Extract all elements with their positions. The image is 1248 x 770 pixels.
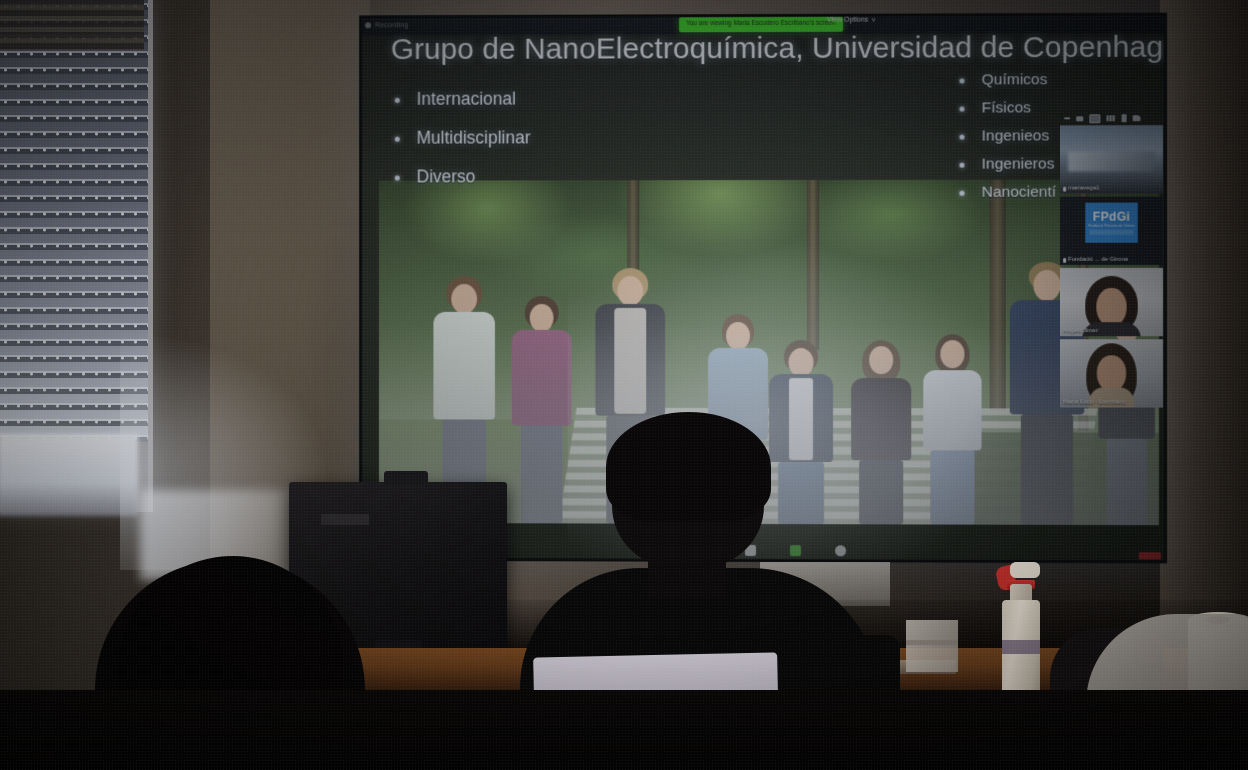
recording-dot-icon bbox=[365, 22, 371, 28]
view-options-label: View Options bbox=[827, 17, 868, 24]
participant-name-row: Maria Escu - Escribano bbox=[1063, 399, 1126, 405]
spray-label bbox=[1002, 640, 1040, 654]
window-icon[interactable] bbox=[1076, 116, 1083, 121]
wall-panel-right bbox=[1160, 0, 1248, 620]
participant-name: Angels Jimer bbox=[1063, 328, 1098, 334]
webcam-icon bbox=[384, 471, 428, 485]
participant-tile[interactable]: mariavega1 bbox=[1060, 125, 1163, 193]
participant-tile[interactable]: FPdGi Fundació Princesa de Girona Fundac… bbox=[1060, 197, 1163, 265]
participant-name: mariavega1 bbox=[1068, 186, 1100, 192]
fpdgi-logo-bar bbox=[1089, 230, 1133, 235]
view-options-button[interactable]: View Options ∨ bbox=[827, 17, 876, 24]
mic-muted-icon bbox=[1063, 257, 1066, 262]
participant-face bbox=[1096, 288, 1126, 326]
slide-title: Grupo de NanoElectroquímica, Universidad… bbox=[391, 31, 1151, 67]
participant-tile[interactable]: Maria Escu - Escribano bbox=[1060, 339, 1163, 407]
gallery-view-icon[interactable] bbox=[1089, 114, 1100, 123]
screen-share-banner: You are viewing Maria Escudero Escribano… bbox=[679, 17, 842, 33]
recording-badge bbox=[1139, 552, 1161, 559]
bullet-item: Químicos bbox=[955, 71, 1056, 89]
participant-face bbox=[1097, 355, 1126, 391]
zoom-video-strip: + mariavega1 FPdGi Fundació Princesa bbox=[1060, 111, 1163, 411]
fpdgi-logo-sub: Fundació Princesa de Girona bbox=[1089, 224, 1135, 228]
plus-icon[interactable]: + bbox=[1122, 114, 1127, 122]
grid-view-icon[interactable] bbox=[1106, 115, 1115, 121]
participant-tile[interactable]: Angels Jimer bbox=[1060, 268, 1163, 336]
window-light bbox=[0, 434, 138, 516]
spray-nozzle bbox=[1010, 562, 1040, 578]
bullet-item: Ingenieros bbox=[955, 156, 1056, 174]
recording-label: Recording bbox=[375, 22, 408, 29]
desk-front-edge bbox=[0, 690, 1248, 770]
carton-box-band bbox=[906, 640, 958, 645]
recording-indicator: Recording bbox=[365, 22, 408, 29]
slide-bullets-right: Químicos Físicos Ingenieos Ingenieros Na… bbox=[955, 71, 1056, 212]
bullet-item: Diverso bbox=[391, 166, 531, 187]
carton-box bbox=[906, 620, 958, 672]
participant-name-row: mariavega1 bbox=[1063, 186, 1100, 192]
participant-name: Maria Escu - Escribano bbox=[1063, 399, 1126, 405]
participant-name-row: Fundació ... de Girona bbox=[1063, 257, 1128, 263]
fpdgi-logo-main: FPdGi bbox=[1093, 210, 1130, 222]
minimize-icon[interactable] bbox=[1064, 117, 1070, 119]
chevron-down-icon: ∨ bbox=[871, 17, 875, 24]
participant-name-row: Angels Jimer bbox=[1063, 328, 1098, 334]
bullet-item: Ingenieos bbox=[955, 127, 1056, 145]
bullet-item: Multidisciplinar bbox=[391, 127, 531, 148]
monitor-logo-strip bbox=[321, 514, 369, 525]
window-blind-top-section bbox=[0, 0, 144, 50]
participant-video-detail bbox=[1068, 151, 1155, 171]
fpdgi-logo: FPdGi Fundació Princesa de Girona bbox=[1085, 203, 1137, 243]
viewer-hair bbox=[606, 412, 771, 522]
bullet-item: Físicos bbox=[955, 99, 1056, 117]
lecture-room-photo: Recording You are viewing Maria Escudero… bbox=[0, 0, 1248, 770]
mic-muted-icon bbox=[1063, 186, 1066, 191]
bullet-item: Internacional bbox=[391, 89, 531, 110]
participant-name: Fundació ... de Girona bbox=[1068, 257, 1128, 263]
speaker-view-icon[interactable] bbox=[1132, 115, 1140, 121]
video-strip-controls[interactable]: + bbox=[1060, 111, 1163, 125]
slide-bullets-left: Internacional Multidisciplinar Diverso bbox=[391, 89, 531, 206]
bullet-item: Nanocientí bbox=[955, 184, 1056, 202]
